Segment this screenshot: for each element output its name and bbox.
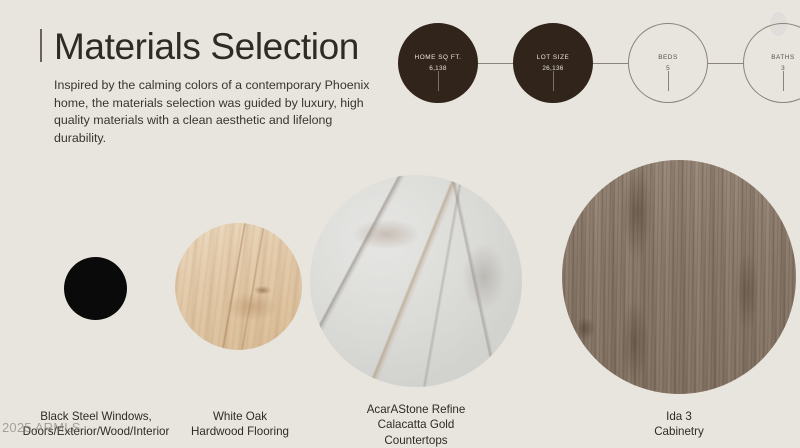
caption-line: Calacatta Gold: [330, 417, 502, 432]
stat-tick-2: [553, 71, 554, 91]
black-steel-swatch[interactable]: [64, 257, 127, 320]
watermark: 2025 ARMLS: [2, 420, 81, 435]
stat-tick-3: [668, 71, 669, 91]
caption-line: Hardwood Flooring: [170, 424, 310, 439]
page-title: Materials Selection: [54, 26, 359, 68]
caption-line: Countertops: [330, 433, 502, 448]
caption-line: White Oak: [170, 409, 310, 424]
stat-connector-2: [593, 63, 628, 64]
caption-line: AcarAStone Refine: [330, 402, 502, 417]
property-stats: HOME SQ FT. 6,138 LOT SIZE 26,136 BEDS 5…: [398, 15, 788, 97]
header: Materials Selection Inspired by the calm…: [40, 26, 380, 147]
stat-label: BATHS: [771, 53, 795, 62]
stat-connector-1: [478, 63, 513, 64]
stat-label: BEDS: [658, 53, 678, 62]
caption-line: Ida 3: [588, 409, 770, 424]
stat-label: HOME SQ FT.: [415, 53, 462, 62]
calacatta-marble-swatch[interactable]: [310, 175, 522, 387]
caption-white-oak: White Oak Hardwood Flooring: [170, 409, 310, 440]
caption-marble: AcarAStone Refine Calacatta Gold Counter…: [330, 402, 502, 448]
stat-tick-4: [783, 71, 784, 91]
slide-canvas: Materials Selection Inspired by the calm…: [0, 0, 800, 448]
caption-cabinetry: Ida 3 Cabinetry: [588, 409, 770, 440]
title-accent-bar: [40, 29, 42, 62]
stat-lot-size[interactable]: LOT SIZE 26,136: [513, 23, 593, 103]
stat-tick-1: [438, 71, 439, 91]
stat-label: LOT SIZE: [537, 53, 570, 62]
title-row: Materials Selection: [40, 26, 380, 68]
caption-line: Cabinetry: [588, 424, 770, 439]
white-oak-swatch[interactable]: [175, 223, 302, 350]
stat-connector-3: [708, 63, 743, 64]
stat-beds[interactable]: BEDS 5: [628, 23, 708, 103]
cabinetry-wood-swatch[interactable]: [562, 160, 796, 394]
stat-home-sq-ft[interactable]: HOME SQ FT. 6,138: [398, 23, 478, 103]
intro-paragraph: Inspired by the calming colors of a cont…: [54, 77, 384, 147]
stat-baths[interactable]: BATHS 3: [743, 23, 800, 103]
